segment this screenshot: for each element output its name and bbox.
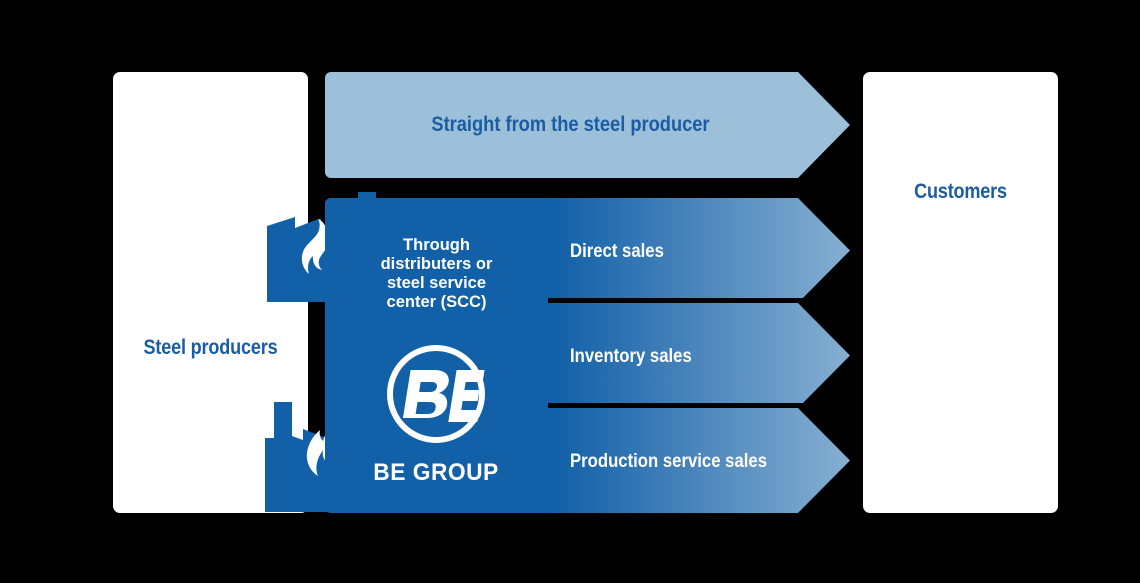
steel-producers-card: Steel producers [113,72,308,513]
arrow-separator [548,403,826,408]
straight-from-producer-label: Straight from the steel producer [431,113,744,137]
be-group-logo: BE GROUP [370,342,502,487]
customers-card: Customers [863,72,1058,513]
flow-label-inventory-sales: Inventory sales [570,346,692,368]
be-circle-logo-icon [384,342,488,451]
flow-label-direct-sales: Direct sales [570,241,664,263]
distribution-flow-block: Through distributers or steel service ce… [325,198,850,513]
straight-from-producer-arrow: Straight from the steel producer [325,72,850,178]
distribution-channel-heading: Through distributers or steel service ce… [372,236,502,312]
be-group-pane: Through distributers or steel service ce… [325,198,548,513]
customers-title: Customers [877,180,1045,204]
flow-label-production-service-sales: Production service sales [570,451,767,473]
arrow-separator [548,298,826,303]
be-group-wordmark: BE GROUP [374,459,499,487]
diagram-canvas: Steel producers Straight from the steel … [0,0,1140,583]
steel-producers-title: Steel producers [127,336,295,360]
